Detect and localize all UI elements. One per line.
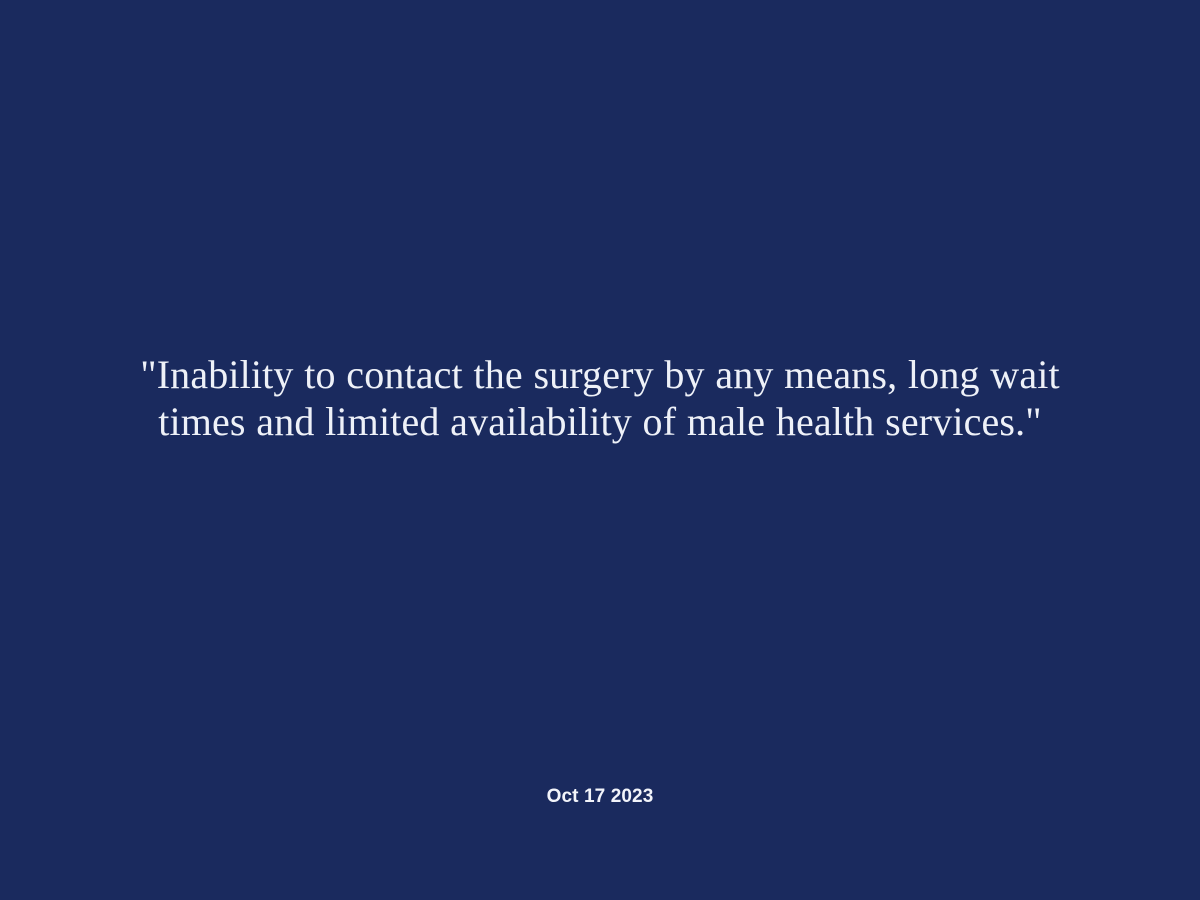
quote-date: Oct 17 2023: [547, 784, 654, 810]
quote-inner: "Inability to contact the surgery by any…: [120, 351, 1080, 445]
quote-card: "Inability to contact the surgery by any…: [0, 0, 1200, 900]
quote-block: "Inability to contact the surgery by any…: [0, 0, 1200, 900]
date-row: Oct 17 2023: [0, 784, 1200, 810]
quote-text: "Inability to contact the surgery by any…: [120, 351, 1080, 445]
